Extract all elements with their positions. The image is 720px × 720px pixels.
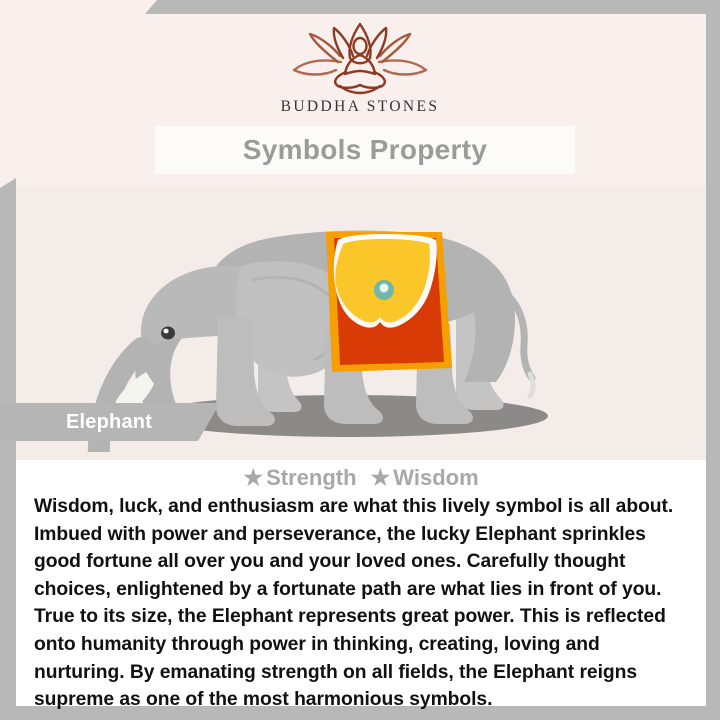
symbol-name-banner: Elephant bbox=[0, 403, 220, 441]
lotus-meditation-icon bbox=[0, 18, 720, 96]
page-title-band: Symbols Property bbox=[155, 126, 575, 174]
trait-item-strength: ★Strength bbox=[243, 466, 356, 489]
symbols-property-infographic: BUDDHA STONES Symbols Property bbox=[0, 0, 720, 720]
symbol-name: Elephant bbox=[66, 411, 152, 434]
frame-left-bar bbox=[0, 178, 16, 720]
trait-list: ★Strength★Wisdom bbox=[30, 466, 692, 489]
brand-logo: BUDDHA STONES bbox=[0, 18, 720, 116]
page-title: Symbols Property bbox=[243, 134, 487, 166]
frame-top-bar bbox=[145, 0, 720, 14]
star-icon: ★ bbox=[371, 465, 391, 490]
star-icon: ★ bbox=[243, 465, 263, 490]
trait-item-wisdom: ★Wisdom bbox=[371, 466, 479, 489]
trait-label-strength: Strength bbox=[266, 465, 356, 490]
symbol-description-panel: ★Strength★Wisdom Wisdom, luck, and enthu… bbox=[16, 460, 706, 706]
symbol-description-text: Wisdom, luck, and enthusiasm are what th… bbox=[30, 493, 692, 714]
brand-name: BUDDHA STONES bbox=[0, 98, 720, 116]
trait-label-wisdom: Wisdom bbox=[393, 465, 478, 490]
